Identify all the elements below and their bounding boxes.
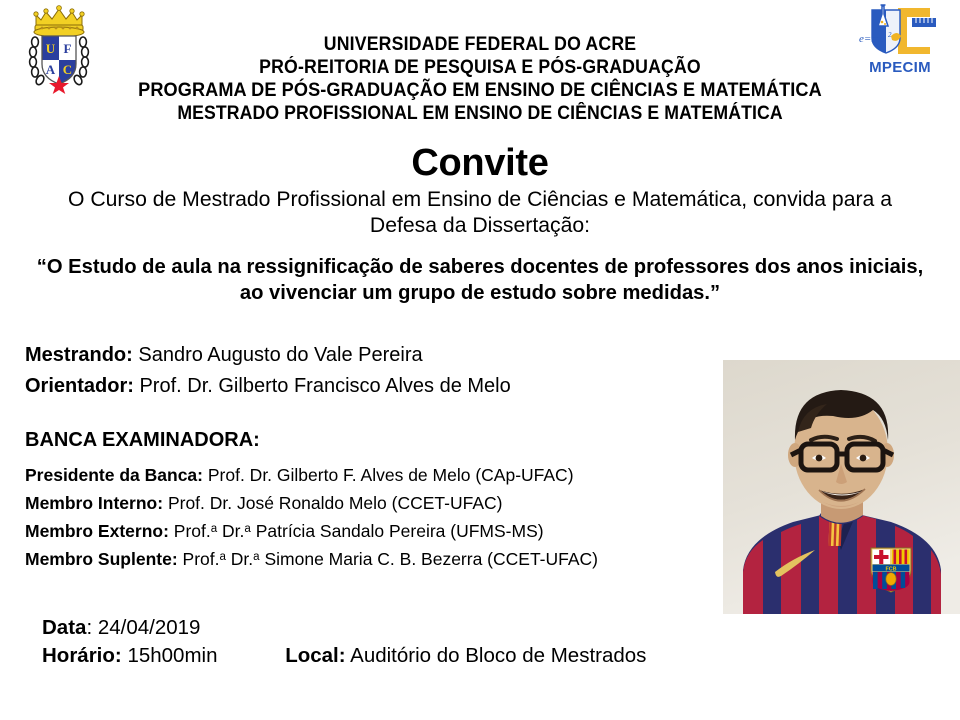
invite-paragraph: O Curso de Mestrado Profissional em Ensi… xyxy=(41,186,920,238)
svg-text:FCB: FCB xyxy=(885,566,896,572)
mestrando-label: Mestrando: xyxy=(25,344,133,366)
banca-members-list: Presidente da Banca: Prof. Dr. Gilberto … xyxy=(25,461,745,573)
banca-member-prof-abbr: Prof. xyxy=(174,521,211,541)
banca-member-dr-abbr: Dr. xyxy=(222,521,244,541)
page-title: Convite xyxy=(0,142,960,184)
banca-member-row: Presidente da Banca: Prof. Dr. Gilberto … xyxy=(25,461,745,489)
banca-member-name: Prof. Dr. José Ronaldo Melo (CCET-UFAC) xyxy=(168,493,503,513)
candidate-photo: FCB xyxy=(723,360,960,614)
banca-member-label: Membro Suplente: xyxy=(25,549,178,569)
orientador-label: Orientador: xyxy=(25,375,134,397)
event-time-place-row: Horário: 15h00min Local: Auditório do Bl… xyxy=(42,642,902,670)
time-value: 15h00min xyxy=(127,644,217,667)
banca-member-row: Membro Suplente: Prof.a Dr.a Simone Mari… xyxy=(25,545,745,573)
ordinal-indicator: a xyxy=(220,551,226,563)
banca-member-name: Simone Maria C. B. Bezerra (CCET-UFAC) xyxy=(264,549,598,569)
event-date-row: Data: 24/04/2019 xyxy=(42,614,902,642)
detail-row-orientador: Orientador: Prof. Dr. Gilberto Francisco… xyxy=(25,371,725,402)
header-line-proreitoria: PRÓ-REITORIA DE PESQUISA E PÓS-GRADUAÇÃO xyxy=(34,56,927,79)
place-value: Auditório do Bloco de Mestrados xyxy=(350,644,646,667)
date-value: 24/04/2019 xyxy=(98,616,201,639)
candidate-details: Mestrando: Sandro Augusto do Vale Pereir… xyxy=(25,340,725,402)
detail-row-mestrando: Mestrando: Sandro Augusto do Vale Pereir… xyxy=(25,340,725,371)
banca-heading: BANCA EXAMINADORA: xyxy=(25,428,260,452)
time-label: Horário: xyxy=(42,644,122,667)
date-separator: : xyxy=(86,616,97,639)
header-line-mestrado: MESTRADO PROFISSIONAL EM ENSINO DE CIÊNC… xyxy=(34,102,927,125)
ordinal-indicator: a xyxy=(253,551,259,563)
place-group: Local: Auditório do Bloco de Mestrados xyxy=(285,644,646,667)
banca-member-label: Membro Interno: xyxy=(25,493,163,513)
banca-member-label: Membro Externo: xyxy=(25,521,169,541)
institution-header-text: UNIVERSIDADE FEDERAL DO ACRE PRÓ-REITORI… xyxy=(0,33,960,125)
orientador-value: Prof. Dr. Gilberto Francisco Alves de Me… xyxy=(139,375,510,397)
header-line-programa: PROGRAMA DE PÓS-GRADUAÇÃO EM ENSINO DE C… xyxy=(34,79,927,102)
document-header: U F A C xyxy=(0,0,960,142)
banca-member-name: Patrícia Sandalo Pereira (UFMS-MS) xyxy=(256,521,544,541)
banca-member-label: Presidente da Banca: xyxy=(25,465,203,485)
place-label: Local: xyxy=(285,644,345,667)
banca-member-name: Prof. Dr. Gilberto F. Alves de Melo (CAp… xyxy=(208,465,574,485)
thesis-title: “O Estudo de aula na ressignificação de … xyxy=(31,254,929,306)
candidate-portrait-image: FCB xyxy=(723,360,960,614)
ordinal-indicator: a xyxy=(244,523,250,535)
banca-member-row: Membro Interno: Prof. Dr. José Ronaldo M… xyxy=(25,489,745,517)
banca-member-dr-abbr: Dr. xyxy=(231,549,253,569)
date-label: Data xyxy=(42,616,86,639)
mestrando-value: Sandro Augusto do Vale Pereira xyxy=(138,344,422,366)
banca-member-prof-abbr: Prof. xyxy=(183,549,220,569)
ordinal-indicator: a xyxy=(211,523,217,535)
event-info: Data: 24/04/2019 Horário: 15h00min Local… xyxy=(42,614,902,670)
banca-member-row: Membro Externo: Prof.a Dr.a Patrícia San… xyxy=(25,517,745,545)
header-line-university: UNIVERSIDADE FEDERAL DO ACRE xyxy=(34,33,927,56)
